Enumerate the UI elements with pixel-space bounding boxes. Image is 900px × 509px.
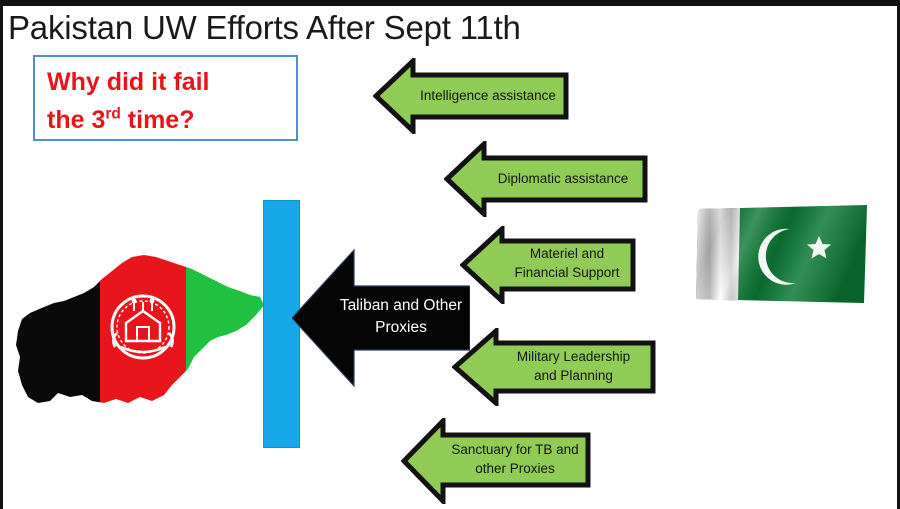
support-arrow-diplomatic: Diplomatic assistance <box>444 141 648 217</box>
center-arrow-shape: Taliban and Other Proxies <box>292 244 470 392</box>
question-callout-box: Why did it fail the 3rd time? <box>33 55 298 141</box>
support-arrow-sanctuary: Sanctuary for TB and other Proxies <box>401 418 591 504</box>
question-callout-text: Why did it fail the 3rd time? <box>47 63 210 139</box>
ordinal-suffix: rd <box>105 106 121 123</box>
question-line-2-suffix: time? <box>121 106 195 134</box>
support-arrow-military: Military Leadership and Planning <box>452 328 656 406</box>
support-arrow-label: Materiel and Financial Support <box>502 244 632 282</box>
support-arrow-label: Intelligence assistance <box>413 86 563 105</box>
support-arrow-label: Sanctuary for TB and other Proxies <box>443 440 587 478</box>
support-arrow-label: Diplomatic assistance <box>484 169 642 188</box>
pakistan-flag-image <box>692 203 867 307</box>
slide-canvas: Pakistan UW Efforts After Sept 11th Why … <box>0 0 900 509</box>
slide-top-border <box>0 0 900 6</box>
page-title: Pakistan UW Efforts After Sept 11th <box>8 8 521 48</box>
support-arrow-label: Military Leadership and Planning <box>496 347 651 385</box>
support-arrow-intelligence: Intelligence assistance <box>373 58 569 134</box>
center-arrow-label: Taliban and Other Proxies <box>334 295 468 339</box>
question-line-2: the 3rd time? <box>47 101 210 139</box>
support-arrow-materiel: Materiel and Financial Support <box>460 226 636 304</box>
slide-left-border <box>0 6 3 509</box>
afghanistan-map-image <box>12 245 274 407</box>
question-line-1: Why did it fail <box>47 63 210 101</box>
question-line-2-prefix: the 3 <box>47 106 105 134</box>
